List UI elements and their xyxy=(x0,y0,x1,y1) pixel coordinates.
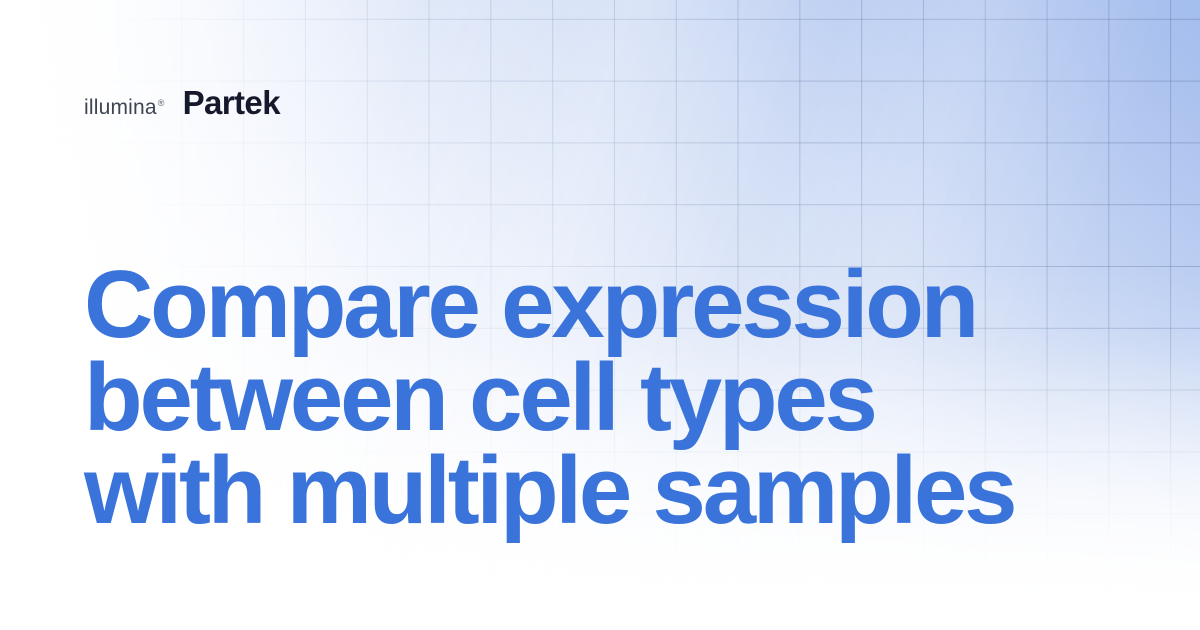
headline-line-1: Compare expression xyxy=(84,258,1144,351)
headline-line-2: between cell types xyxy=(84,351,1144,444)
page-title: Compare expression between cell types wi… xyxy=(84,258,1144,537)
partek-wordmark: Partek xyxy=(183,86,280,119)
registered-trademark-icon: ® xyxy=(158,98,165,108)
card-content: illumina® Partek Compare expression betw… xyxy=(0,0,1200,630)
illumina-wordmark-text: illumina xyxy=(84,96,157,119)
social-card: illumina® Partek Compare expression betw… xyxy=(0,0,1200,630)
headline-line-3: with multiple samples xyxy=(84,444,1144,537)
brand-lockup: illumina® Partek xyxy=(84,86,280,119)
illumina-wordmark: illumina® xyxy=(84,97,165,118)
